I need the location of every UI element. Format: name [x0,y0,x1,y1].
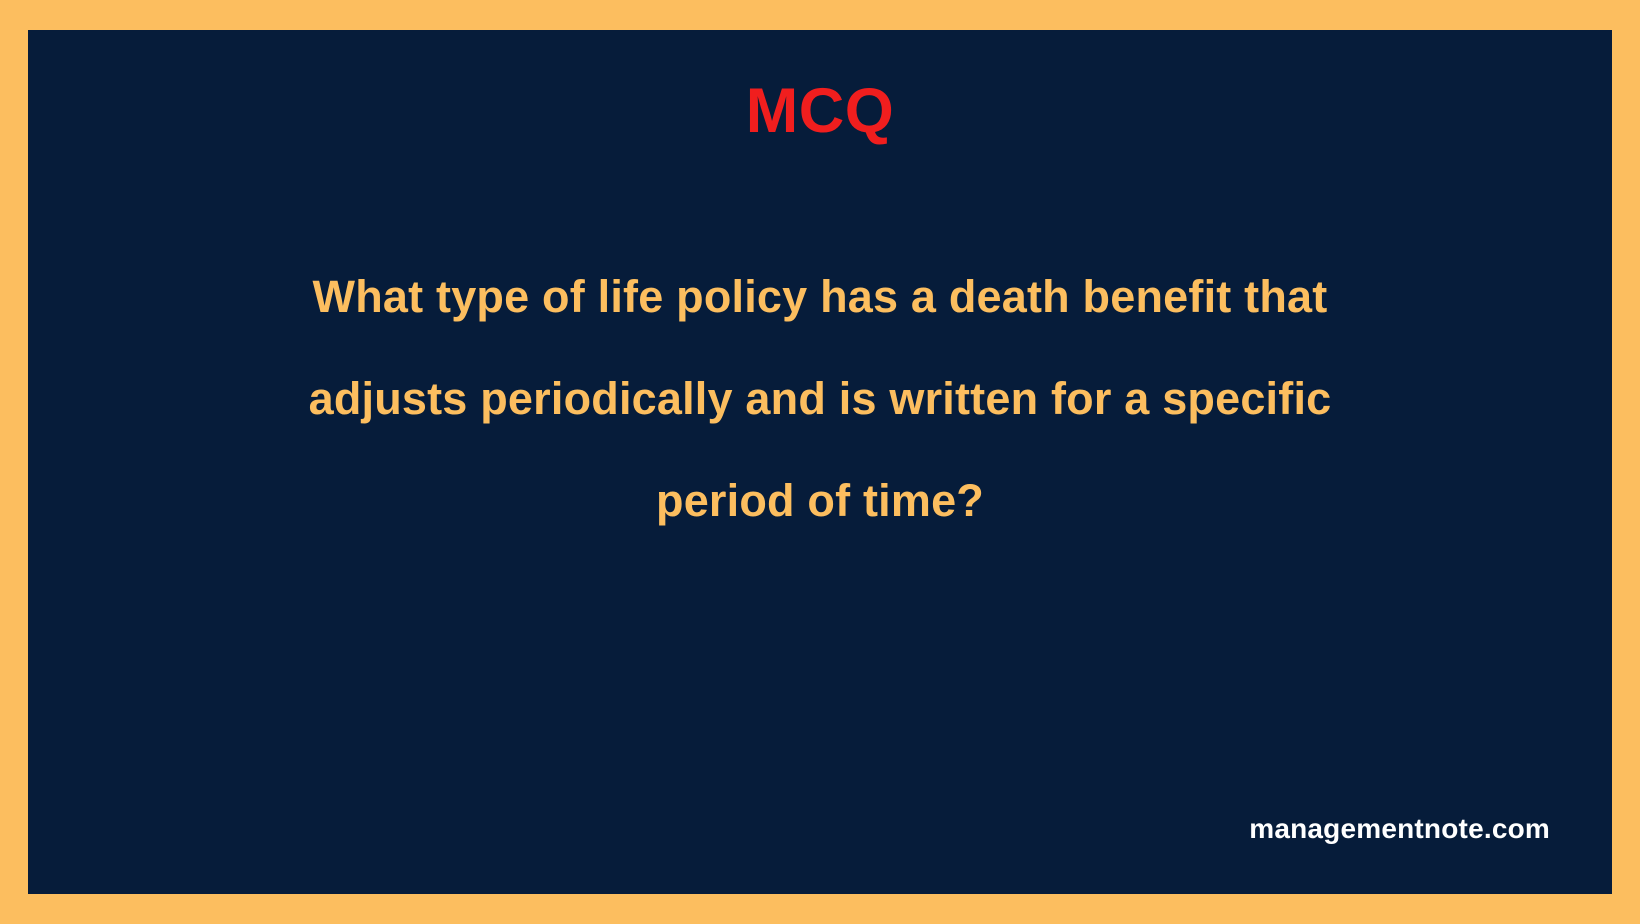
question-text: What type of life policy has a death ben… [275,246,1365,552]
slide-frame: MCQ What type of life policy has a death… [0,0,1640,924]
site-watermark: managementnote.com [1249,812,1550,846]
slide-panel: MCQ What type of life policy has a death… [28,30,1612,894]
page-title: MCQ [28,78,1612,144]
